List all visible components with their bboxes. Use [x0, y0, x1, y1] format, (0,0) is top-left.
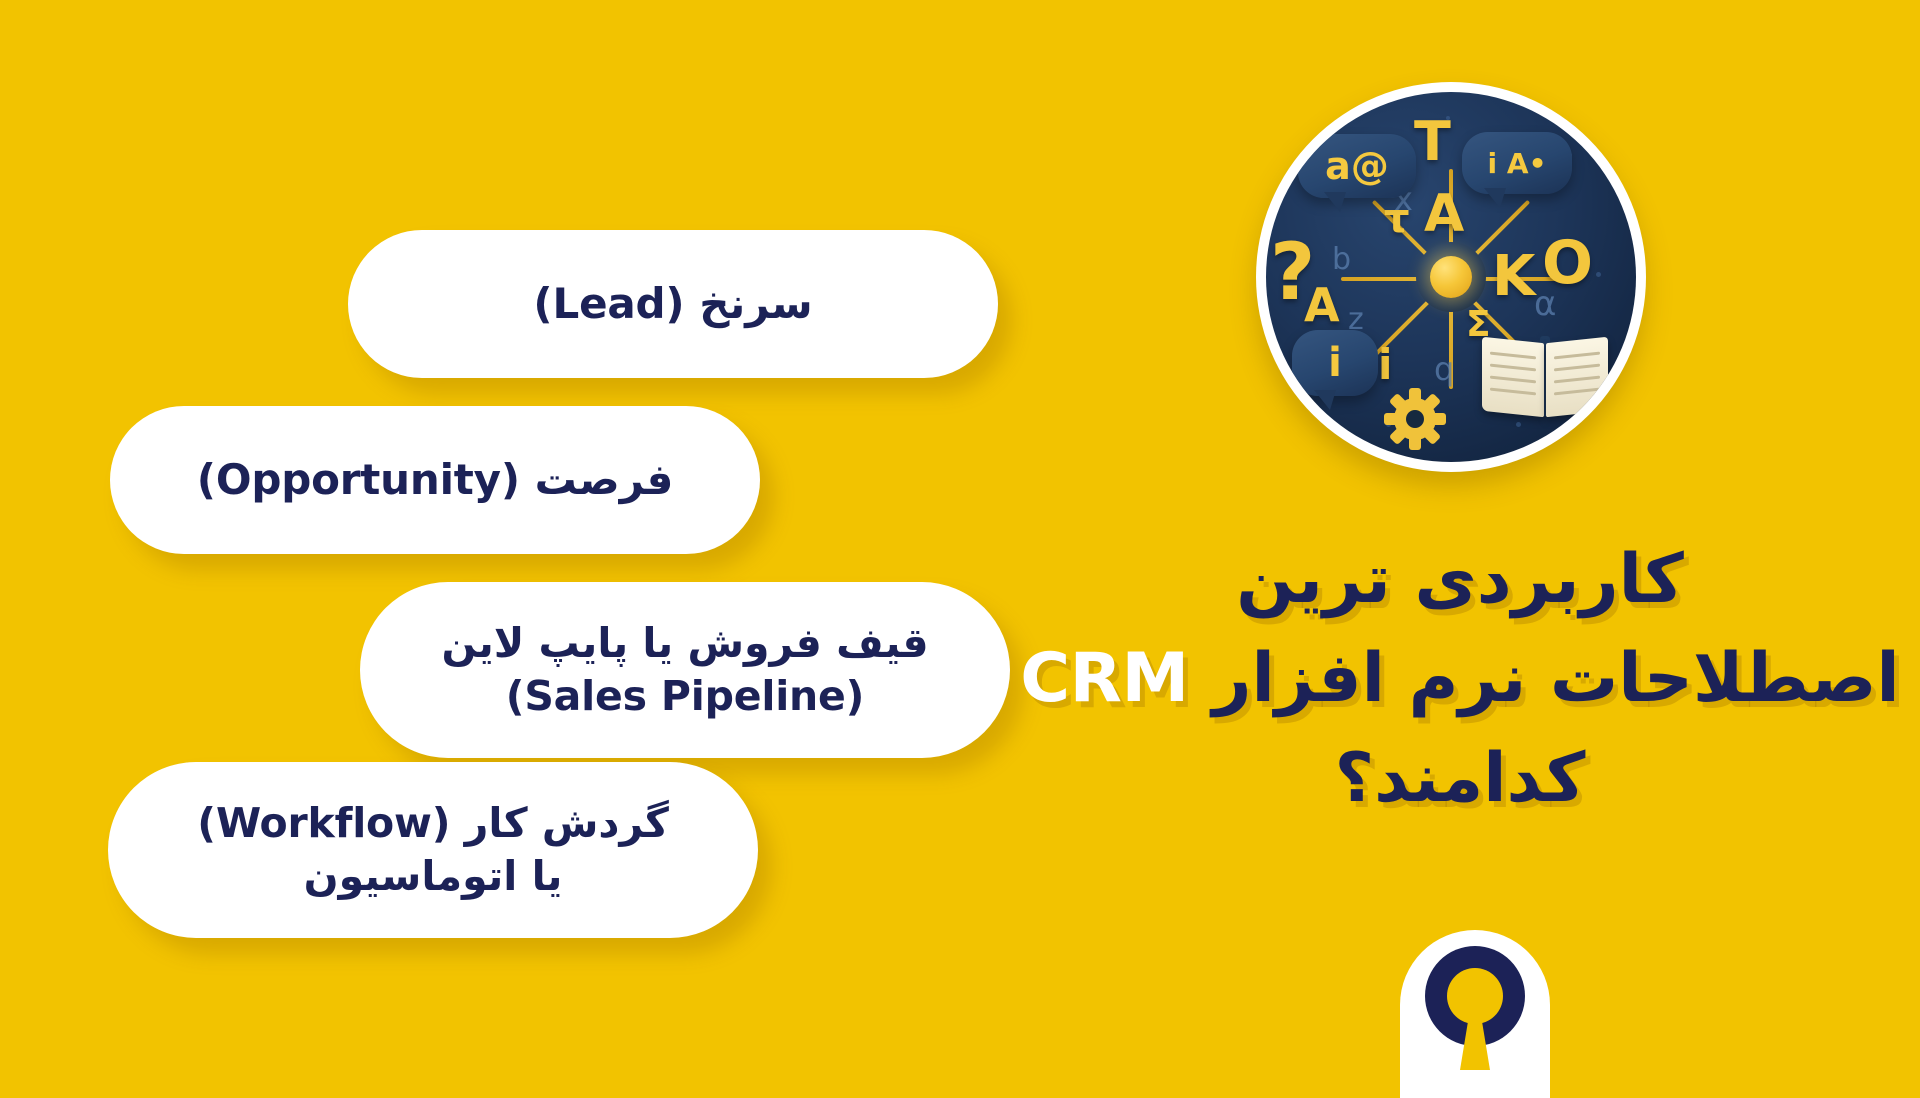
at-bubble-label: @a — [1325, 144, 1389, 188]
ia-speech-bubble: •i A — [1462, 132, 1572, 194]
term-pill-opportunity-line1: فرصت (Opportunity) — [197, 453, 674, 508]
central-orb-core — [1430, 256, 1472, 298]
q-dim-glyph: q — [1434, 350, 1454, 388]
book-left-page — [1482, 337, 1544, 418]
headline-line-3: کدامند؟ — [1010, 729, 1910, 828]
brand-logo-badge[interactable] — [1400, 930, 1550, 1098]
knowledge-circle-illustration: @a •i A i ? T τ A A K O Σ i x — [1256, 82, 1646, 472]
brand-keyhole-logo-icon — [1416, 946, 1534, 1082]
open-book-icon — [1480, 332, 1610, 418]
at-speech-bubble: @a — [1298, 134, 1416, 198]
headline-line-1: کاربردی ترین — [1010, 530, 1910, 629]
term-pill-pipeline[interactable]: قیف فروش یا پایپ لاین (Sales Pipeline) — [360, 582, 1010, 758]
ia-bubble-label: •i A — [1488, 147, 1547, 180]
illustration-disc: @a •i A i ? T τ A A K O Σ i x — [1266, 92, 1636, 462]
right-column: @a •i A i ? T τ A A K O Σ i x — [1060, 0, 1920, 1080]
kappa-glyph: K — [1492, 244, 1535, 309]
brand-crm-label: CRM — [1020, 639, 1188, 718]
term-pill-opportunity[interactable]: فرصت (Opportunity) — [110, 406, 760, 554]
term-pill-pipeline-line1: قیف فروش یا پایپ لاین — [441, 617, 928, 670]
iota-glyph: i — [1378, 340, 1392, 389]
tau-upper-glyph: T — [1414, 110, 1451, 173]
b-dim-glyph: b — [1332, 242, 1351, 277]
gear-icon — [1384, 388, 1446, 450]
headline-line-2-text: اصطلاحات نرم افزار — [1189, 639, 1900, 718]
alpha-upper-glyph: A — [1424, 184, 1464, 244]
term-pill-lead[interactable]: سرنخ (Lead) — [348, 230, 998, 378]
headline-line-2: اصطلاحات نرم افزار CRM — [1010, 629, 1910, 728]
speck-decor — [1326, 122, 1331, 127]
speck-decor — [1596, 272, 1601, 277]
info-bubble-label: i — [1328, 340, 1342, 386]
latin-a-glyph: A — [1304, 278, 1340, 332]
term-pill-workflow-line1: گردش کار (Workflow) — [197, 797, 669, 850]
speck-decor — [1516, 422, 1521, 427]
headline: کاربردی ترین اصطلاحات نرم افزار CRM کدام… — [1010, 530, 1910, 828]
book-right-page — [1546, 337, 1608, 418]
term-pill-pipeline-line2: (Sales Pipeline) — [441, 670, 928, 723]
term-pill-workflow-line2: یا اتوماسیون — [197, 850, 669, 903]
terms-list: سرنخ (Lead) فرصت (Opportunity) قیف فروش … — [0, 0, 1060, 1080]
term-pill-lead-line1: سرنخ (Lead) — [533, 277, 812, 332]
alpha-dim-glyph: α — [1534, 284, 1556, 324]
term-pill-workflow[interactable]: گردش کار (Workflow) یا اتوماسیون — [108, 762, 758, 938]
info-speech-bubble: i — [1292, 330, 1378, 396]
infographic-canvas: سرنخ (Lead) فرصت (Opportunity) قیف فروش … — [0, 0, 1920, 1080]
